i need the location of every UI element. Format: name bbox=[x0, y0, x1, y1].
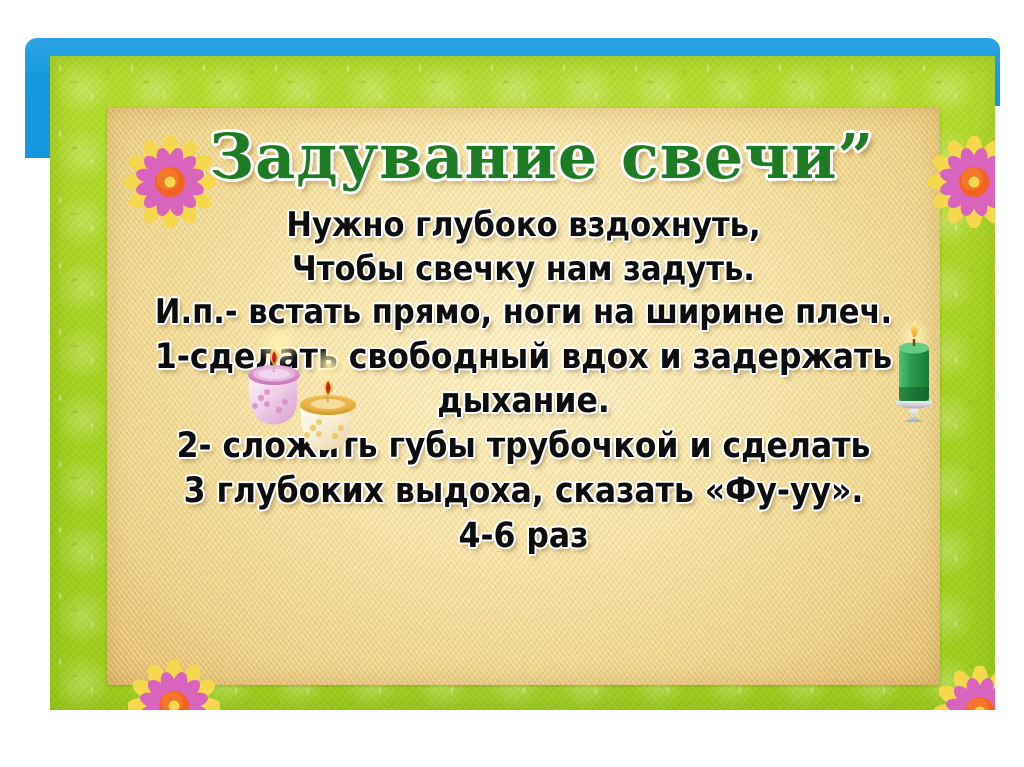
instruction-line-5: дыхание. bbox=[125, 379, 922, 424]
flower-icon-bottom-right bbox=[934, 666, 995, 710]
instruction-line-1: Нужно глубоко вздохнуть, bbox=[125, 204, 922, 248]
instruction-line-2: Чтобы свечку нам задуть. bbox=[125, 248, 922, 292]
decorative-card: „Задувание свечи” Нужно глубоко вздохнут… bbox=[50, 56, 995, 710]
content-panel: „Задувание свечи” Нужно глубоко вздохнут… bbox=[107, 108, 940, 685]
exercise-instructions: Нужно глубоко вздохнуть, Чтобы свечку на… bbox=[125, 204, 922, 559]
slide-canvas: „Задувание свечи” Нужно глубоко вздохнут… bbox=[0, 0, 1024, 767]
instruction-line-3: И.п.- встать прямо, ноги на ширине плеч. bbox=[125, 291, 922, 335]
page-title: „Задувание свечи” bbox=[107, 124, 940, 189]
instruction-line-6: 2- сложить губы трубочкой и сделать bbox=[125, 424, 922, 469]
instruction-line-4: 1-сделать свободный вдох и задержать bbox=[125, 335, 922, 380]
instruction-line-7: 3 глубоких выдоха, сказать «Фу-уу». bbox=[125, 469, 922, 514]
instruction-line-8: 4-6 раз bbox=[125, 514, 922, 559]
